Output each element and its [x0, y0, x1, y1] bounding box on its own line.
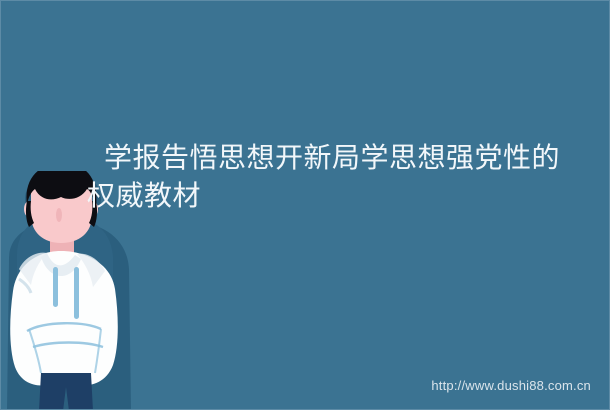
image-canvas: 学报告悟思想开新局学思想强党性的权威教材 http://www.dushi88.…: [0, 0, 610, 410]
site-watermark: http://www.dushi88.com.cn: [431, 378, 591, 393]
headline-text: 学报告悟思想开新局学思想强党性的权威教材: [87, 139, 587, 215]
drawstring-left: [53, 267, 58, 307]
drawstring-right: [74, 267, 79, 319]
nose: [56, 208, 62, 222]
